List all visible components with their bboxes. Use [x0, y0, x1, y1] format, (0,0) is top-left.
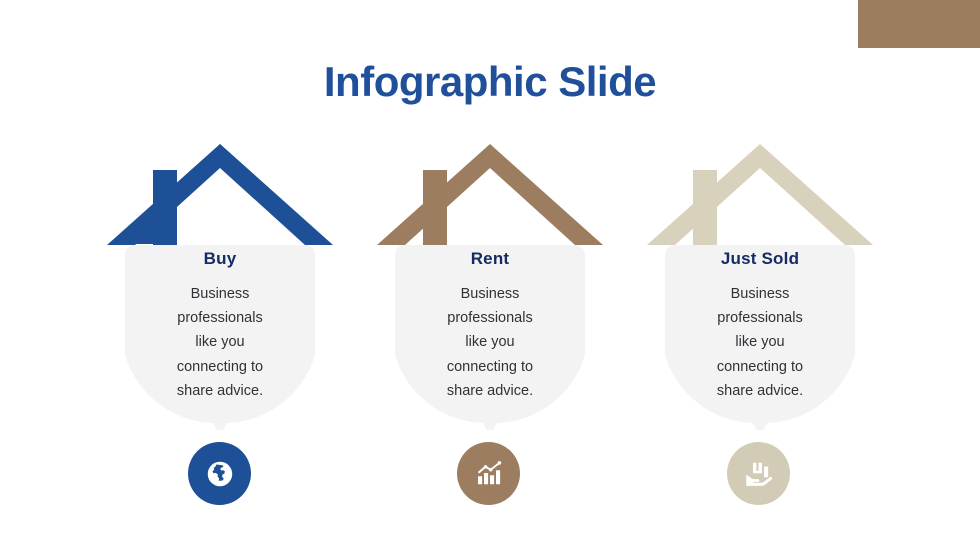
card-body-line: Business	[395, 282, 585, 306]
card-body-line: professionals	[125, 306, 315, 330]
card-body-line: like you	[125, 330, 315, 354]
card-body-line: like you	[665, 330, 855, 354]
card-heading: Rent	[395, 250, 585, 269]
corner-accent-block	[858, 0, 980, 48]
icon-badge-just-sold[interactable]	[727, 442, 790, 505]
icon-badge-buy[interactable]	[188, 442, 251, 505]
card-body-line: share advice.	[125, 379, 315, 403]
card-rent[interactable]: Rent Business professionals like you con…	[375, 140, 605, 430]
roof-outline-shape	[647, 144, 873, 245]
card-body-text: Business professionals like you connecti…	[395, 282, 585, 404]
card-body-line: share advice.	[395, 379, 585, 403]
card-text-block: Just Sold Business professionals like yo…	[665, 250, 855, 403]
card-body-text: Business professionals like you connecti…	[665, 282, 855, 404]
card-body-line: Business	[665, 282, 855, 306]
card-body-line: connecting to	[665, 355, 855, 379]
card-heading: Just Sold	[665, 250, 855, 269]
icon-row	[0, 442, 980, 512]
card-just-sold[interactable]: Just Sold Business professionals like yo…	[645, 140, 875, 430]
card-body-line: professionals	[665, 306, 855, 330]
card-body-line: connecting to	[395, 355, 585, 379]
infographic-slide: Infographic Slide Buy Business professio…	[0, 0, 980, 551]
hand-holding-building-icon	[744, 459, 774, 489]
page-title: Infographic Slide	[0, 58, 980, 106]
icon-badge-rent[interactable]	[457, 442, 520, 505]
bar-chart-growth-icon	[474, 459, 504, 489]
card-row: Buy Business professionals like you conn…	[0, 140, 980, 430]
card-text-block: Buy Business professionals like you conn…	[125, 250, 315, 403]
roof-outline-shape	[377, 144, 603, 245]
card-heading: Buy	[125, 250, 315, 269]
card-body-line: Business	[125, 282, 315, 306]
card-body-line: share advice.	[665, 379, 855, 403]
globe-icon	[205, 459, 235, 489]
card-text-block: Rent Business professionals like you con…	[395, 250, 585, 403]
roof-outline-shape	[107, 144, 333, 245]
card-body-text: Business professionals like you connecti…	[125, 282, 315, 404]
card-body-line: like you	[395, 330, 585, 354]
card-body-line: professionals	[395, 306, 585, 330]
card-body-line: connecting to	[125, 355, 315, 379]
card-buy[interactable]: Buy Business professionals like you conn…	[105, 140, 335, 430]
